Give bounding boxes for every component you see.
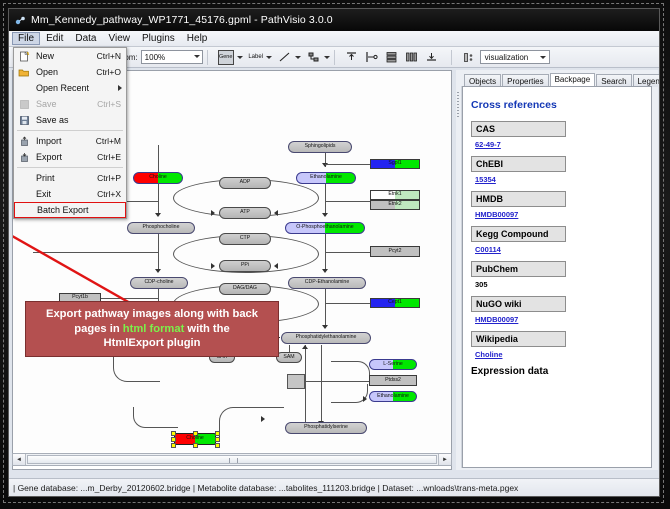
menu-item-shortcut: Ctrl+M	[96, 136, 126, 146]
scroll-thumb[interactable]	[27, 455, 437, 464]
menu-file[interactable]: File	[12, 32, 40, 45]
gene-tool-button[interactable]: Gene	[218, 50, 243, 65]
xref-nugo: NuGO wiki HMDB00097	[471, 296, 651, 324]
menu-item-new[interactable]: New Ctrl+N	[14, 48, 126, 64]
file-menu-dropdown[interactable]: New Ctrl+N Open Ctrl+O Open Recent Save	[13, 47, 127, 219]
xref-value-kegg[interactable]: C00114	[475, 245, 651, 254]
annotation-callout: Export pathway images along with back pa…	[25, 301, 279, 357]
menu-item-shortcut: Ctrl+E	[97, 152, 126, 162]
align-left-button[interactable]	[365, 51, 379, 64]
line-tool-button[interactable]	[278, 51, 301, 64]
xref-label-chebi: ChEBI	[471, 156, 566, 172]
xref-wikipedia: Wikipedia Choline	[471, 331, 651, 359]
annotation-line2-b: with the	[184, 323, 229, 335]
blank-icon	[17, 204, 33, 217]
visualization-icon-button[interactable]	[462, 51, 476, 64]
xref-value-wikipedia[interactable]: Choline	[475, 350, 651, 359]
label-tool-button[interactable]: Label	[249, 51, 272, 64]
xref-cas: CAS 62-49-7	[471, 121, 651, 149]
chevron-down-icon[interactable]	[237, 56, 243, 59]
menu-item-shortcut: Ctrl+O	[96, 67, 126, 77]
xref-hmdb: HMDB HMDB00097	[471, 191, 651, 219]
xref-label-pubchem: PubChem	[471, 261, 566, 277]
scroll-right-icon[interactable]: ►	[438, 454, 451, 465]
annotation-text: Export pathway images along with back pa…	[41, 307, 263, 351]
backpage-panel: Cross references CAS 62-49-7 ChEBI 15354…	[462, 86, 652, 468]
sidebar: Objects Properties Backpage Search Legen…	[456, 70, 658, 470]
menu-item-label: Export	[32, 152, 97, 162]
xref-kegg: Kegg Compound C00114	[471, 226, 651, 254]
menu-item-shortcut: Ctrl+P	[97, 173, 126, 183]
menu-item-open[interactable]: Open Ctrl+O	[14, 64, 126, 80]
menu-help[interactable]: Help	[181, 32, 214, 45]
chevron-down-icon[interactable]	[266, 56, 272, 59]
new-document-icon	[16, 50, 32, 63]
align-left-icon	[365, 51, 379, 64]
menu-view[interactable]: View	[102, 32, 136, 45]
annotation-line3: HtmlExport plugin	[104, 337, 201, 349]
xref-value-pubchem: 305	[475, 280, 651, 289]
group-button[interactable]	[425, 51, 439, 64]
group-icon	[425, 51, 439, 64]
visualization-icon	[462, 51, 476, 64]
annotation-line1: Export pathway images along with back	[46, 308, 258, 320]
menu-item-label: Batch Export	[33, 205, 125, 215]
xref-label-cas: CAS	[471, 121, 566, 137]
menu-separator	[17, 130, 123, 131]
menu-item-label: Open	[32, 67, 96, 77]
menu-item-label: Open Recent	[32, 83, 126, 93]
menu-item-batch-export[interactable]: Batch Export	[14, 202, 126, 218]
screenshot-root: Mm_Kennedy_pathway_WP1771_45176.gpml - P…	[0, 0, 670, 509]
chevron-down-icon	[540, 56, 546, 59]
distribute-icon	[405, 51, 419, 64]
title-bar: Mm_Kennedy_pathway_WP1771_45176.gpml - P…	[9, 9, 660, 31]
menu-item-label: New	[32, 51, 97, 61]
toolbar-separator	[451, 50, 452, 65]
tab-backpage[interactable]: Backpage	[550, 73, 596, 87]
menu-item-shortcut: Ctrl+S	[97, 99, 126, 109]
import-icon	[16, 135, 32, 148]
folder-open-icon	[16, 66, 32, 79]
menu-item-save: Save Ctrl+S	[14, 96, 126, 112]
cross-references-heading: Cross references	[471, 99, 651, 111]
menu-item-exit[interactable]: Exit Ctrl+X	[14, 186, 126, 202]
chevron-down-icon[interactable]	[324, 56, 330, 59]
xref-chebi: ChEBI 15354	[471, 156, 651, 184]
zoom-combobox[interactable]: 100%	[141, 50, 203, 64]
menu-item-label: Import	[32, 136, 96, 146]
menu-item-label: Exit	[32, 189, 97, 199]
pathvisio-window: Mm_Kennedy_pathway_WP1771_45176.gpml - P…	[8, 8, 660, 497]
menu-item-export[interactable]: Export Ctrl+E	[14, 149, 126, 165]
window-title: Mm_Kennedy_pathway_WP1771_45176.gpml - P…	[31, 14, 333, 26]
xref-label-kegg: Kegg Compound	[471, 226, 566, 242]
distribute-button[interactable]	[405, 51, 419, 64]
xref-value-hmdb[interactable]: HMDB00097	[475, 210, 651, 219]
xref-pubchem: PubChem 305	[471, 261, 651, 289]
xref-value-cas[interactable]: 62-49-7	[475, 140, 651, 149]
expression-data-heading: Expression data	[471, 366, 651, 377]
menu-item-label: Print	[32, 173, 97, 183]
blank-icon	[16, 172, 32, 185]
menu-item-label: Save	[32, 99, 97, 109]
visualization-combobox[interactable]: visualization	[480, 50, 550, 64]
menu-item-shortcut: Ctrl+N	[97, 51, 126, 61]
save-as-icon	[16, 114, 32, 127]
chevron-down-icon[interactable]	[295, 56, 301, 59]
toolbar-separator	[334, 50, 335, 65]
xref-label-nugo: NuGO wiki	[471, 296, 566, 312]
annotation-highlight: html format	[123, 323, 185, 335]
label-tool-icon: Label	[249, 51, 263, 64]
visualization-value: visualization	[485, 53, 529, 62]
menu-plugins[interactable]: Plugins	[136, 32, 181, 45]
scroll-left-icon[interactable]: ◄	[13, 454, 26, 465]
align-top-button[interactable]	[345, 51, 359, 64]
xref-label-hmdb: HMDB	[471, 191, 566, 207]
status-text: | Gene database: ...m_Derby_20120602.bri…	[9, 483, 518, 493]
toolbar-separator	[207, 50, 208, 65]
annotation-line2-a: pages in	[74, 323, 123, 335]
menu-item-shortcut: Ctrl+X	[97, 189, 126, 199]
menu-edit[interactable]: Edit	[40, 32, 69, 45]
blank-icon	[16, 188, 32, 201]
submenu-arrow-icon	[118, 85, 122, 91]
interaction-tool-icon	[307, 51, 321, 64]
status-bar: | Gene database: ...m_Derby_20120602.bri…	[9, 478, 660, 497]
interaction-tool-button[interactable]	[307, 51, 330, 64]
menu-item-label: Save as	[32, 115, 121, 125]
blank-icon	[16, 82, 32, 95]
xref-value-nugo[interactable]: HMDB00097	[475, 315, 651, 324]
menu-item-open-recent[interactable]: Open Recent	[14, 80, 126, 96]
line-tool-icon	[278, 51, 292, 64]
menu-data[interactable]: Data	[69, 32, 102, 45]
menu-item-save-as[interactable]: Save as	[14, 112, 126, 128]
menu-item-import[interactable]: Import Ctrl+M	[14, 133, 126, 149]
xref-label-wikipedia: Wikipedia	[471, 331, 566, 347]
align-stack-icon	[385, 51, 399, 64]
chevron-down-icon	[194, 55, 200, 58]
zoom-value: 100%	[145, 53, 165, 62]
export-icon	[16, 151, 32, 164]
xref-value-chebi[interactable]: 15354	[475, 175, 651, 184]
save-icon	[16, 98, 32, 111]
menu-separator	[17, 167, 123, 168]
align-top-icon	[345, 51, 359, 64]
menu-item-print[interactable]: Print Ctrl+P	[14, 170, 126, 186]
sidebar-tabs: Objects Properties Backpage Search Legen…	[464, 72, 658, 87]
align-stack-button[interactable]	[385, 51, 399, 64]
menu-bar: File Edit Data View Plugins Help	[9, 31, 660, 47]
gene-tool-icon: Gene	[218, 50, 234, 65]
pathvisio-icon	[15, 15, 26, 26]
canvas-hscrollbar[interactable]: ◄ ►	[12, 453, 452, 466]
